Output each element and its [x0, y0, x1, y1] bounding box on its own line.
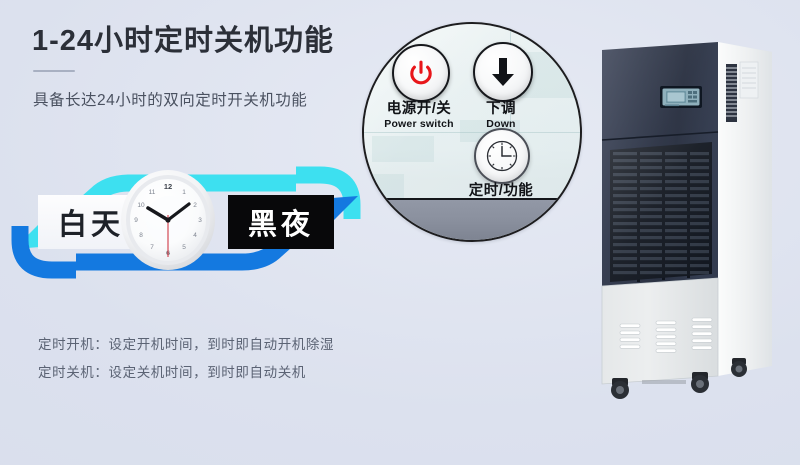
svg-text:8: 8 — [139, 232, 143, 239]
power-icon — [407, 59, 435, 87]
down-label-en: Down — [461, 119, 541, 131]
night-pill: 黑夜 — [228, 195, 334, 249]
svg-text:5: 5 — [182, 244, 186, 251]
power-button[interactable] — [392, 44, 450, 102]
control-panel-closeup: 电源开/关 Power switch 下调 Down 定时/功能 Timing/… — [362, 22, 582, 242]
svg-text:11: 11 — [149, 189, 156, 196]
power-button-label: 电源开/关 Power switch — [369, 102, 469, 130]
power-label-cn: 电源开/关 — [369, 102, 469, 118]
svg-text:9: 9 — [134, 217, 138, 224]
page-subtitle: 具备长达24小时的双向定时开关机功能 — [33, 88, 307, 110]
title-divider — [33, 70, 75, 72]
panel-seam — [364, 132, 580, 133]
svg-text:7: 7 — [150, 244, 154, 251]
svg-text:2: 2 — [193, 202, 197, 209]
page-title: 1-24小时定时关机功能 — [32, 26, 334, 56]
arrow-down-icon — [488, 56, 518, 88]
svg-text:1: 1 — [182, 189, 186, 196]
power-label-en: Power switch — [369, 119, 469, 131]
product-image-dehumidifier — [600, 28, 780, 408]
svg-text:4: 4 — [193, 232, 197, 239]
timer-function-button[interactable] — [474, 128, 530, 184]
down-button-label: 下调 Down — [461, 102, 541, 130]
front-grille — [610, 142, 712, 282]
down-label-cn: 下调 — [461, 102, 541, 118]
clock-icon — [484, 138, 520, 174]
down-button[interactable] — [473, 42, 533, 102]
day-label: 白天 — [58, 201, 124, 243]
panel-surface-detail — [372, 136, 434, 162]
svg-text:10: 10 — [137, 202, 145, 209]
night-label: 黑夜 — [248, 201, 314, 243]
description-line-1: 定时开机：设定开机时间，到时即自动开机除湿 — [38, 333, 334, 353]
analog-clock: 12 1 2 3 4 5 6 7 8 9 10 11 — [119, 167, 217, 272]
description-line-2: 定时关机：设定关机时间，到时即自动关机 — [38, 361, 306, 381]
machine-display — [660, 86, 702, 108]
panel-base-edge — [364, 198, 580, 240]
svg-text:12: 12 — [164, 182, 172, 191]
svg-text:3: 3 — [198, 217, 202, 224]
promo-banner: 1-24小时定时关机功能 具备长达24小时的双向定时开关机功能 白天 黑夜 — [0, 0, 800, 465]
